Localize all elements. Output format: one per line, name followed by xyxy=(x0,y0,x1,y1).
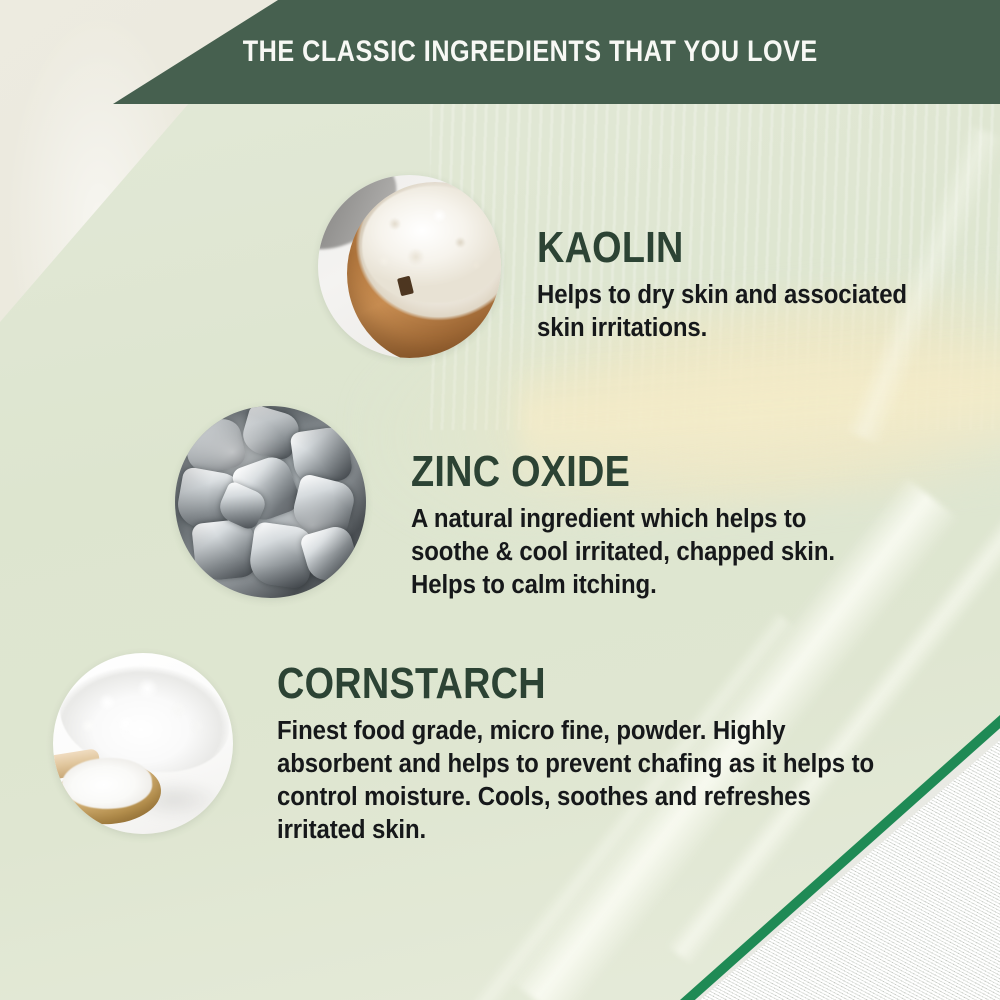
zinc-foil-specular-highlights xyxy=(175,406,366,598)
ingredient-image-zinc-oxide xyxy=(175,406,366,598)
ingredient-text-kaolin: KAOLIN Helps to dry skin and associated … xyxy=(537,226,967,345)
ingredients-infographic: THE CLASSIC INGREDIENTS THAT YOU LOVE KA… xyxy=(0,0,1000,1000)
ingredient-title-kaolin: KAOLIN xyxy=(537,226,907,270)
ingredient-text-cornstarch: CORNSTARCH Finest food grade, micro fine… xyxy=(277,662,917,848)
kaolin-photo xyxy=(318,175,501,358)
ingredient-title-zinc-oxide: ZINC OXIDE xyxy=(411,450,841,494)
ingredient-title-cornstarch: CORNSTARCH xyxy=(277,662,827,706)
page-title: THE CLASSIC INGREDIENTS THAT YOU LOVE xyxy=(80,0,920,104)
cornstarch-photo xyxy=(53,653,233,834)
ingredient-description-kaolin: Helps to dry skin and associated skin ir… xyxy=(537,279,941,345)
ingredient-image-kaolin xyxy=(318,175,501,358)
ingredient-description-zinc-oxide: A natural ingredient which helps to soot… xyxy=(411,503,881,602)
ingredient-text-zinc-oxide: ZINC OXIDE A natural ingredient which he… xyxy=(411,450,911,602)
ingredient-image-cornstarch xyxy=(53,653,233,834)
kaolin-powder-texture xyxy=(366,193,498,295)
zinc-oxide-photo xyxy=(175,406,366,598)
ingredient-description-cornstarch: Finest food grade, micro fine, powder. H… xyxy=(277,715,879,848)
